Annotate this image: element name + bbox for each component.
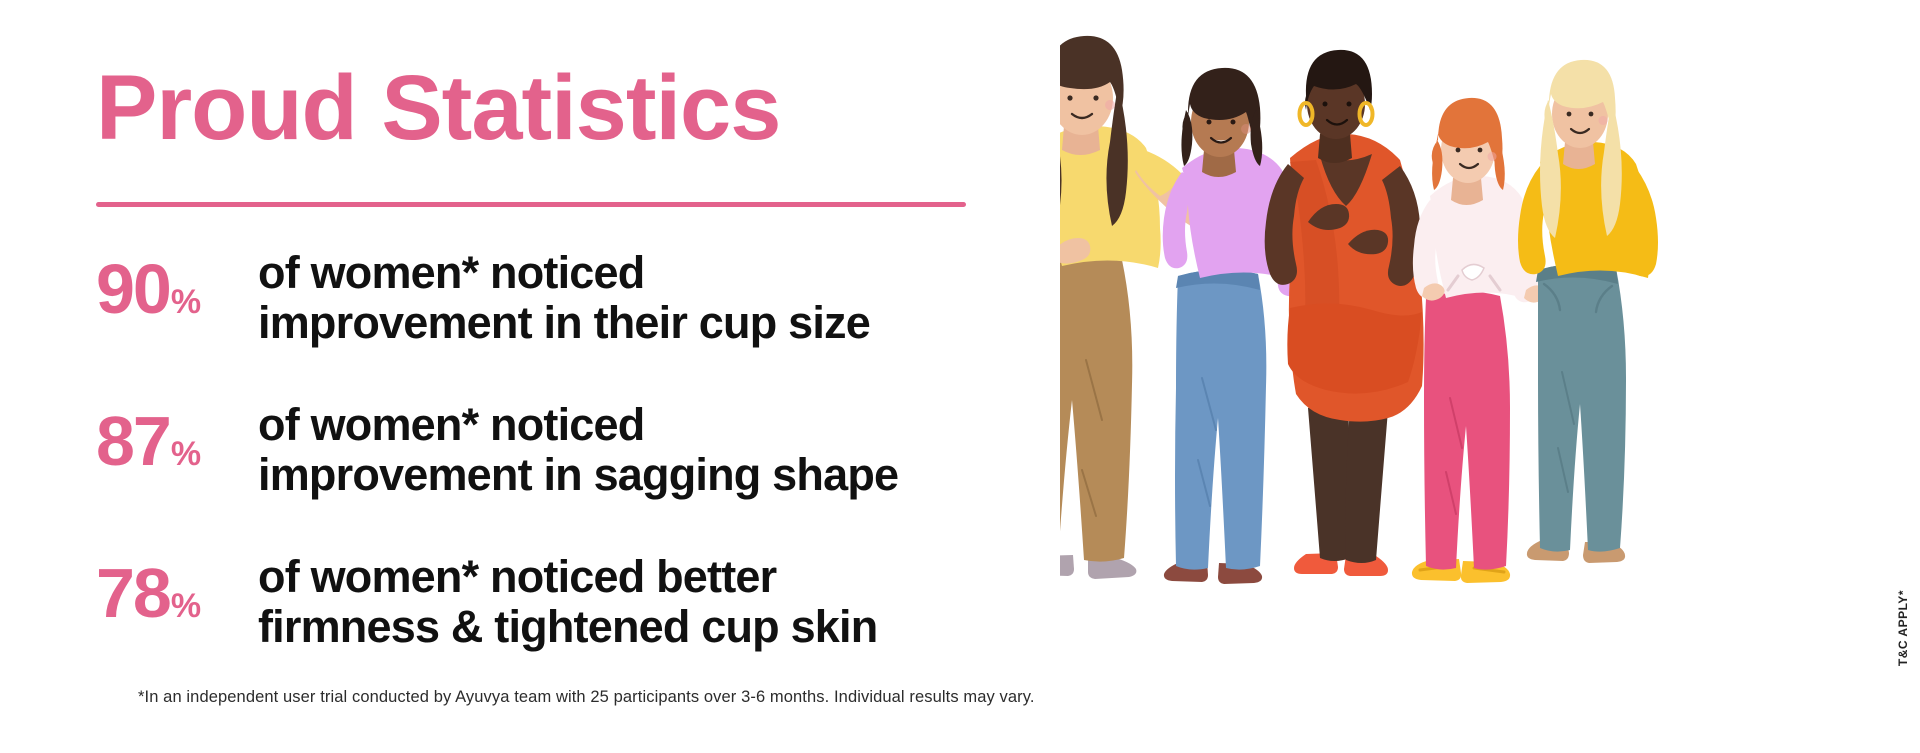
stat-line-2: improvement in their cup size [258, 298, 1056, 348]
stat-line-2: firmness & tightened cup skin [258, 602, 1056, 652]
stat-description: of women* noticed better firmness & tigh… [258, 548, 1056, 653]
stat-row: 90 % of women* noticed improvement in th… [96, 244, 1056, 354]
percent-symbol: % [171, 589, 201, 623]
percent-symbol: % [171, 437, 201, 471]
stat-value: 90 [96, 254, 170, 324]
statistics-list: 90 % of women* noticed improvement in th… [96, 244, 1056, 700]
woman-4-figure [1412, 98, 1547, 583]
title-underline-divider [96, 202, 966, 207]
stat-line-2: improvement in sagging shape [258, 450, 1056, 500]
stat-description: of women* noticed improvement in sagging… [258, 396, 1056, 501]
stat-figure: 87 % [96, 396, 258, 476]
footnote-disclaimer: *In an independent user trial conducted … [138, 688, 1035, 707]
page-title: Proud Statistics [96, 62, 780, 154]
stat-figure: 90 % [96, 244, 258, 324]
five-women-illustration: T&C APPLY* [1060, 0, 1920, 748]
woman-5-figure [1518, 60, 1658, 563]
stat-line-1: of women* noticed [258, 399, 644, 450]
stat-row: 78 % of women* noticed better firmness &… [96, 548, 1056, 658]
terms-and-conditions-label: T&C APPLY* [1896, 590, 1910, 666]
stats-panel: Proud Statistics 90 % of women* noticed … [0, 0, 1080, 748]
stat-value: 78 [96, 558, 170, 628]
woman-3-figure [1265, 50, 1424, 576]
stat-figure: 78 % [96, 548, 258, 628]
stat-value: 87 [96, 406, 170, 476]
percent-symbol: % [171, 285, 201, 319]
stat-line-1: of women* noticed better [258, 551, 776, 602]
infographic-banner: Proud Statistics 90 % of women* noticed … [0, 0, 1920, 748]
stat-description: of women* noticed improvement in their c… [258, 244, 1056, 349]
stat-row: 87 % of women* noticed improvement in sa… [96, 396, 1056, 506]
stat-line-1: of women* noticed [258, 247, 644, 298]
